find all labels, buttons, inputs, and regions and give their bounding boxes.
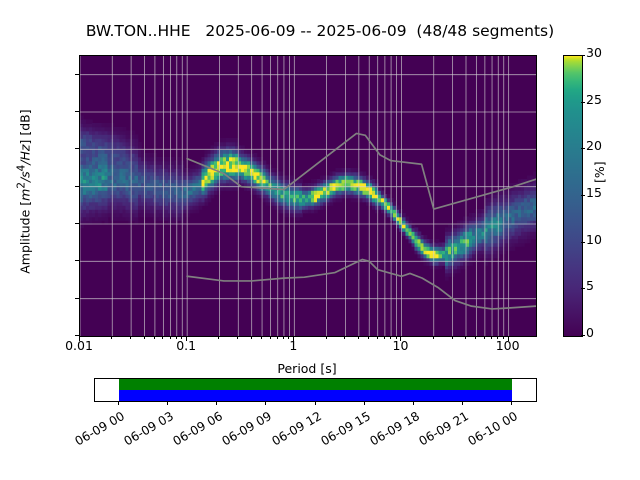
x-minor-tick-mark [484,336,485,339]
x-minor-tick-mark [358,336,359,339]
ppsd-figure: BW.TON..HHE 2025-06-09 -- 2025-06-09 (48… [0,0,640,480]
coverage-tick-mark [511,401,512,405]
x-tick-label: 1 [263,340,323,353]
ppsd-density-canvas [80,56,536,336]
x-minor-tick-mark [162,336,163,339]
colorbar-tick-mark [581,335,585,336]
colorbar-tick-mark [581,195,585,196]
x-tick-mark [79,336,80,341]
coverage-tick-mark [315,401,316,405]
x-minor-tick-mark [491,336,492,339]
coverage-tick-mark [265,401,266,405]
time-coverage-bar [94,378,537,402]
x-tick-mark [293,336,294,341]
colorbar-tick-label: 15 [586,187,602,200]
coverage-tick-mark [216,401,217,405]
x-tick-label: 10 [370,340,430,353]
coverage-tick-mark [118,401,119,405]
coverage-data-segment [119,379,511,390]
y-axis-label: Amplitude [m2/s4/Hz] [dB] [15,52,32,332]
x-minor-tick-mark [503,336,504,339]
x-minor-tick-mark [130,336,131,339]
x-minor-tick-mark [270,336,271,339]
x-minor-tick-mark [176,336,177,339]
x-minor-tick-mark [261,336,262,339]
x-minor-tick-mark [237,336,238,339]
x-tick-label: 100 [478,340,538,353]
y-tick-mark [75,223,79,224]
x-tick-mark [186,336,187,341]
x-minor-tick-mark [170,336,171,339]
x-minor-tick-mark [181,336,182,339]
x-tick-label: 0.01 [49,340,109,353]
y-tick-mark [75,260,79,261]
coverage-tick-mark [364,401,365,405]
y-tick-mark [75,186,79,187]
y-tick-mark [75,74,79,75]
y-tick-mark [75,111,79,112]
colorbar-tick-label: 30 [586,47,602,60]
x-minor-tick-mark [277,336,278,339]
colorbar [563,55,583,337]
colorbar-tick-label: 10 [586,234,602,247]
x-minor-tick-mark [288,336,289,339]
x-minor-tick-mark [344,336,345,339]
ppsd-plot-area [79,55,537,337]
x-minor-tick-mark [154,336,155,339]
x-tick-label: 0.1 [156,340,216,353]
x-minor-tick-mark [218,336,219,339]
colorbar-tick-mark [581,148,585,149]
colorbar-tick-label: 5 [586,280,594,293]
coverage-tick-mark [462,401,463,405]
colorbar-tick-label: 25 [586,94,602,107]
colorbar-tick-mark [581,288,585,289]
x-axis-label: Period [s] [79,361,535,376]
x-minor-tick-mark [384,336,385,339]
x-minor-tick-mark [251,336,252,339]
page-title: BW.TON..HHE 2025-06-09 -- 2025-06-09 (48… [0,22,640,40]
colorbar-tick-label: 20 [586,140,602,153]
colorbar-tick-mark [581,102,585,103]
x-minor-tick-mark [433,336,434,339]
x-minor-tick-mark [368,336,369,339]
x-tick-mark [400,336,401,341]
y-tick-mark [75,298,79,299]
x-minor-tick-mark [111,336,112,339]
x-minor-tick-mark [396,336,397,339]
colorbar-tick-mark [581,55,585,56]
colorbar-tick-mark [581,242,585,243]
x-minor-tick-mark [283,336,284,339]
colorbar-tick-label: 0 [586,327,594,340]
coverage-tick-mark [167,401,168,405]
x-minor-tick-mark [144,336,145,339]
x-minor-tick-mark [497,336,498,339]
x-minor-tick-mark [465,336,466,339]
x-minor-tick-mark [475,336,476,339]
x-tick-mark [508,336,509,341]
x-minor-tick-mark [326,336,327,339]
colorbar-label: [%] [592,123,607,183]
coverage-tick-mark [413,401,414,405]
y-tick-mark [75,148,79,149]
coverage-psd-segment [119,390,511,401]
x-minor-tick-mark [377,336,378,339]
x-minor-tick-mark [390,336,391,339]
x-minor-tick-mark [452,336,453,339]
